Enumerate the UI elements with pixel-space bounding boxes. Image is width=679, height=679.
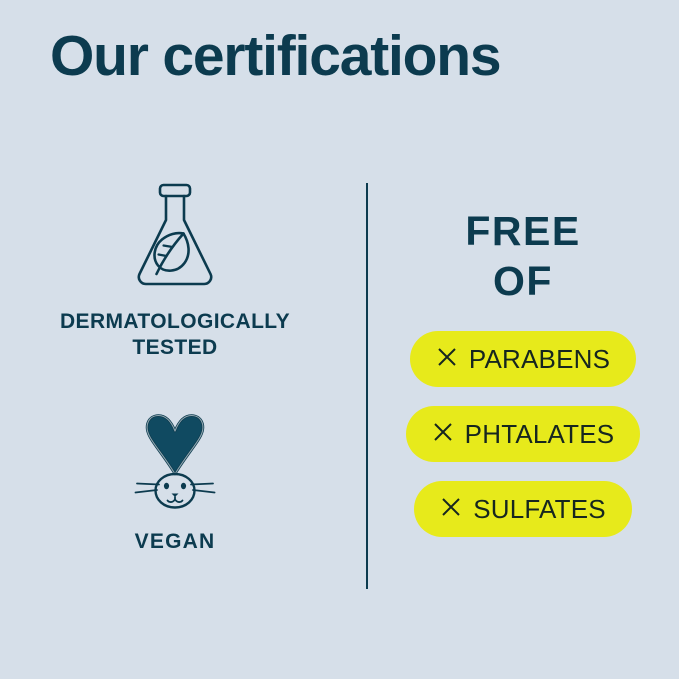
certification-label: DERMATOLOGICALLY TESTED <box>0 309 350 362</box>
free-of-item-label: PHTALATES <box>465 419 615 450</box>
certification-item-vegan: VEGAN <box>0 412 350 555</box>
flask-leaf-icon <box>0 180 350 295</box>
x-icon <box>432 421 454 448</box>
certifications-panel: Our certifications <box>0 0 679 679</box>
free-of-item-sulfates: SULFATES <box>414 481 632 537</box>
free-of-column: FREE OF PARABENS PHTALATES <box>380 206 679 537</box>
x-icon <box>436 346 458 373</box>
x-icon <box>440 496 462 523</box>
free-of-item-phtalates: PHTALATES <box>406 406 641 462</box>
bunny-heart-ears-icon <box>0 412 350 517</box>
free-of-item-parabens: PARABENS <box>410 331 636 387</box>
free-of-heading: FREE OF <box>388 206 658 306</box>
certification-label: VEGAN <box>0 529 350 555</box>
free-of-list: PARABENS PHTALATES SULFATES <box>388 331 658 537</box>
free-of-item-label: SULFATES <box>473 494 606 525</box>
column-divider <box>366 183 368 589</box>
certification-item-dermatologically-tested: DERMATOLOGICALLY TESTED <box>0 180 350 362</box>
page-title: Our certifications <box>50 27 500 87</box>
free-of-item-label: PARABENS <box>469 344 610 375</box>
certifications-column: DERMATOLOGICALLY TESTED <box>0 180 350 600</box>
